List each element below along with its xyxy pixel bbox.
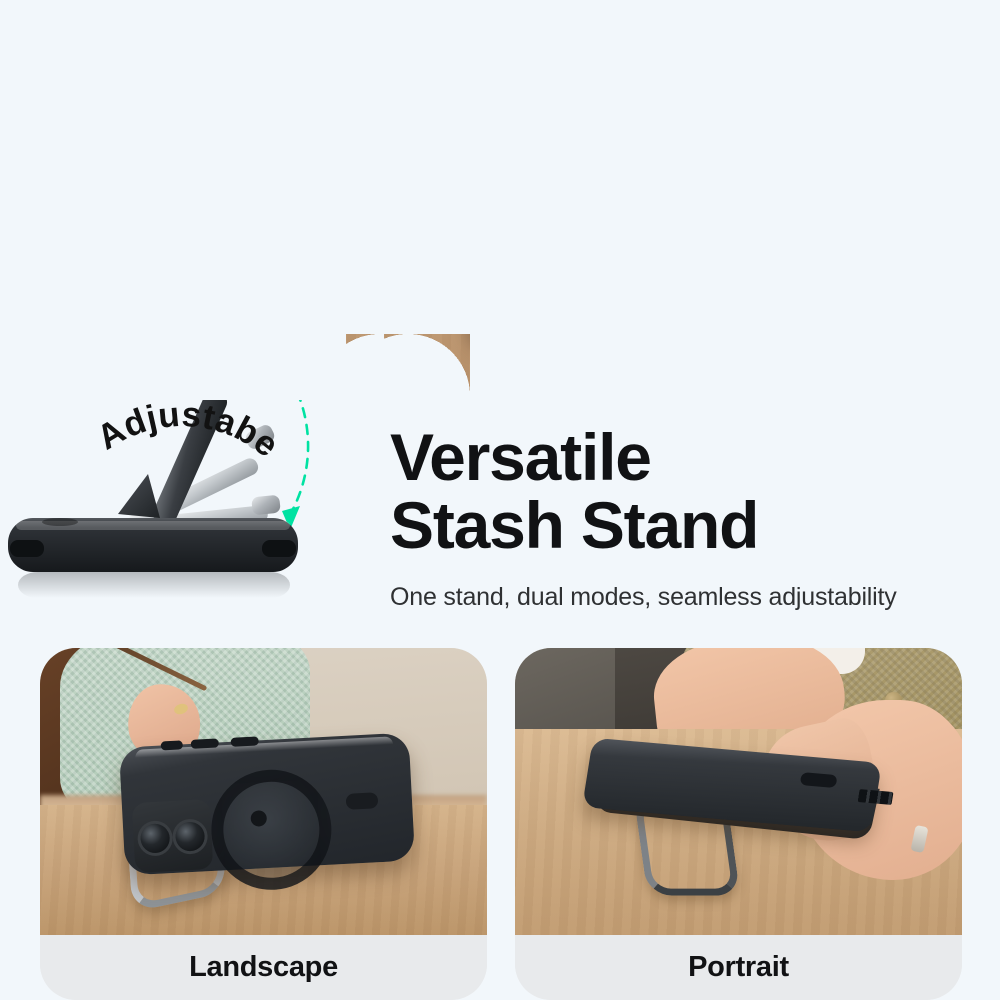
case-speaker-vent [490, 199, 512, 205]
landscape-photo [40, 648, 487, 935]
subheadline: One stand, dual modes, seamless adjustab… [390, 583, 897, 612]
hero-notch-fill [0, 334, 318, 400]
case-button [191, 738, 219, 748]
portrait-mode-panel: Portrait [515, 648, 962, 1000]
camera-module [132, 799, 214, 873]
phone-in-case-landscape [119, 732, 415, 875]
case-button [558, 194, 606, 202]
landscape-caption-text: Landscape [189, 951, 338, 984]
camera-lens [140, 823, 170, 853]
case-speaker-grill [858, 789, 894, 805]
case-button [230, 736, 258, 746]
landscape-mode-panel: Landscape [40, 648, 487, 1000]
hero-product-phone-case: ESR [466, 188, 886, 340]
portrait-caption-text: Portrait [688, 951, 789, 984]
camera-lens [812, 212, 862, 262]
landscape-caption-bar: Landscape [40, 935, 487, 1000]
portrait-photo [515, 648, 962, 935]
case-button [800, 772, 838, 788]
case-accent-pill [346, 792, 379, 810]
woman-necklace [458, 10, 522, 74]
hero-notch-corner [318, 334, 384, 400]
product-feature-page: ESR [0, 0, 1000, 1000]
camera-lens [175, 821, 205, 851]
brand-logo: ESR [604, 286, 636, 301]
camera-lens [748, 212, 798, 262]
portrait-caption-bar: Portrait [515, 935, 962, 1000]
stand-hinge-base [118, 474, 160, 518]
headline: Versatile Stash Stand [390, 424, 758, 560]
case-body-side-view [8, 518, 298, 572]
stand-reflection [18, 572, 290, 598]
metal-ring-stand [750, 264, 861, 388]
battery-pack: ESR [488, 214, 740, 338]
case-button [666, 194, 714, 202]
case-button [161, 740, 183, 750]
cardigan-button [756, 160, 773, 177]
